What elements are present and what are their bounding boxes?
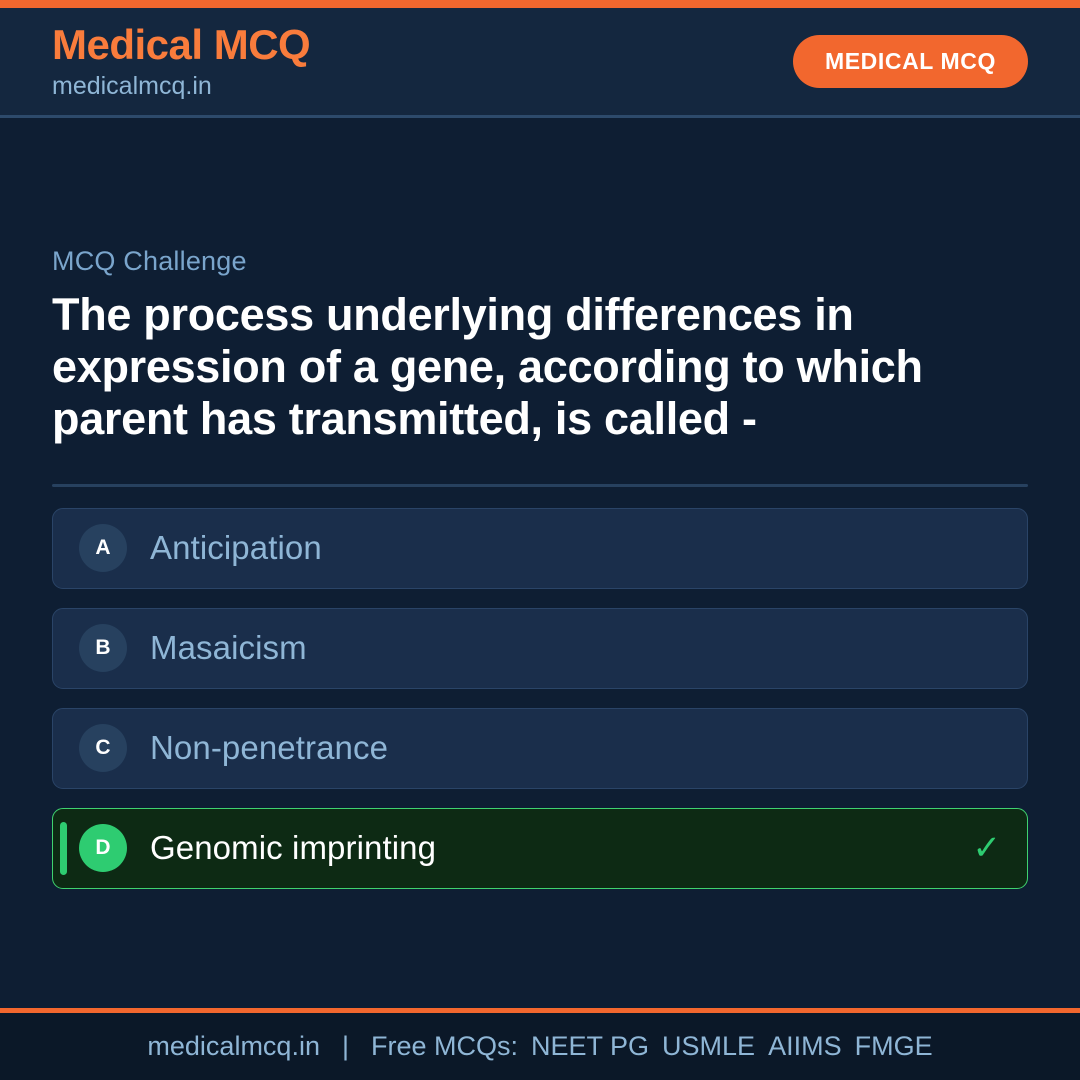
header-badge: MEDICAL MCQ	[793, 35, 1028, 88]
kicker-label: MCQ Challenge	[52, 246, 1028, 277]
options-list: A Anticipation B Masaicism C Non-penetra…	[52, 508, 1028, 889]
option-row-c[interactable]: C Non-penetrance	[52, 708, 1028, 789]
option-letter-badge: A	[79, 524, 127, 572]
option-label: Non-penetrance	[150, 729, 388, 767]
option-row-d[interactable]: D Genomic imprinting ✓	[52, 808, 1028, 889]
page-footer: medicalmcq.in | Free MCQs:NEET PGUSMLEAI…	[0, 1008, 1080, 1080]
footer-site: medicalmcq.in	[147, 1031, 320, 1062]
bottom-spacer	[0, 994, 1080, 1008]
top-accent-bar	[0, 0, 1080, 8]
footer-exam-neetpg: NEET PG	[531, 1031, 649, 1061]
correct-accent-bar	[60, 822, 67, 875]
mcq-card: Medical MCQ medicalmcq.in MEDICAL MCQ MC…	[0, 0, 1080, 1080]
question-text: The process underlying differences in ex…	[52, 289, 1028, 446]
footer-exam-aiims: AIIMS	[768, 1031, 842, 1061]
footer-exams: Free MCQs:NEET PGUSMLEAIIMSFMGE	[371, 1031, 933, 1062]
footer-exam-fmge: FMGE	[855, 1031, 933, 1061]
brand: Medical MCQ medicalmcq.in	[52, 24, 310, 99]
check-icon: ✓	[973, 831, 1002, 865]
option-label: Genomic imprinting	[150, 829, 436, 867]
option-letter-badge: C	[79, 724, 127, 772]
option-row-b[interactable]: B Masaicism	[52, 608, 1028, 689]
page-header: Medical MCQ medicalmcq.in MEDICAL MCQ	[0, 8, 1080, 118]
option-letter-badge: B	[79, 624, 127, 672]
divider	[52, 484, 1028, 487]
option-label: Anticipation	[150, 529, 322, 567]
option-letter-badge: D	[79, 824, 127, 872]
footer-separator: |	[342, 1031, 349, 1062]
option-label: Masaicism	[150, 629, 307, 667]
brand-title: Medical MCQ	[52, 24, 310, 66]
brand-subtitle: medicalmcq.in	[52, 74, 310, 99]
main-content: MCQ Challenge The process underlying dif…	[0, 118, 1080, 994]
option-row-a[interactable]: A Anticipation	[52, 508, 1028, 589]
footer-exam-usmle: USMLE	[662, 1031, 755, 1061]
footer-label: Free MCQs:	[371, 1031, 518, 1061]
